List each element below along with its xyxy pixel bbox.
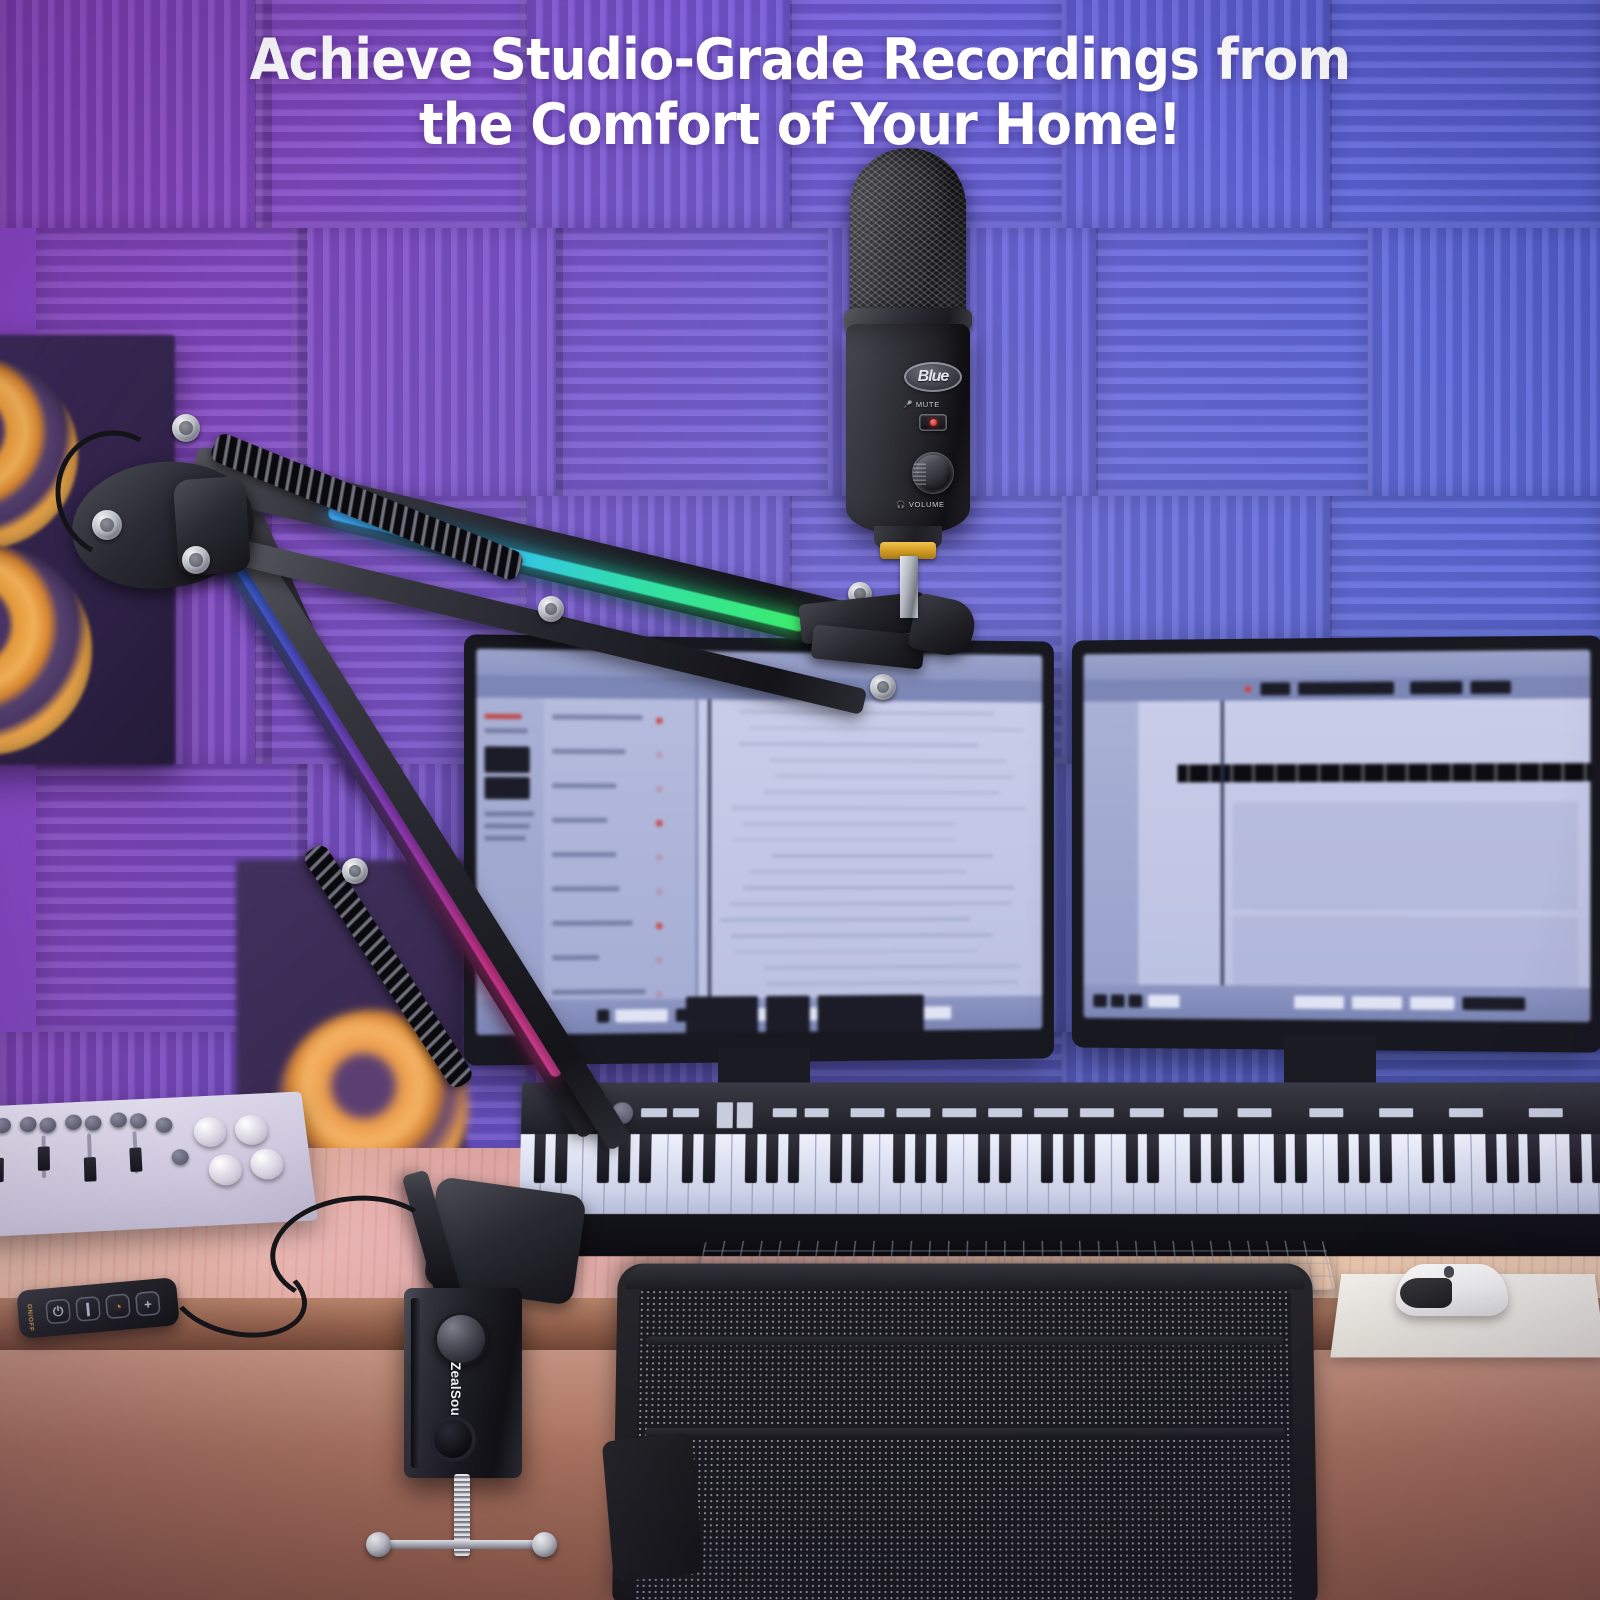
computer-mouse — [1396, 1264, 1508, 1316]
bolt-2 — [92, 510, 122, 540]
piano-black-key — [830, 1134, 842, 1183]
piano-black-key — [1232, 1134, 1244, 1183]
piano-black-key — [766, 1134, 778, 1183]
daw-record-dot — [656, 751, 663, 758]
piano-black-key — [533, 1134, 546, 1183]
bolt-1 — [172, 414, 200, 442]
monitor-left — [464, 634, 1054, 1065]
piano-white-key — [731, 1134, 753, 1216]
mute-button[interactable] — [919, 414, 947, 431]
daw-record-dot — [656, 888, 663, 895]
piano-black-key — [1422, 1134, 1434, 1183]
office-chair — [612, 1264, 1318, 1600]
plus-button[interactable]: + — [135, 1291, 161, 1317]
clamp-cable-channel — [411, 1298, 420, 1468]
chair-mesh-back — [634, 1283, 1295, 1600]
daw-track-label — [552, 818, 607, 823]
editor-menubar — [1084, 650, 1591, 680]
piano-black-key — [1379, 1134, 1391, 1183]
daw-track-row — [743, 885, 1014, 890]
editor-canvas — [1138, 698, 1590, 987]
daw-track-row — [750, 726, 1025, 732]
piano-black-key — [1189, 1134, 1201, 1183]
t-handle-knob-left — [366, 1532, 391, 1557]
daw-track-row — [720, 917, 970, 922]
daw-playhead — [708, 700, 711, 999]
page-title: Achieve Studio-Grade Recordings from the… — [0, 28, 1600, 158]
piano-black-key — [893, 1134, 905, 1183]
daw-record-dot — [656, 854, 663, 861]
piano-black-key — [851, 1134, 863, 1183]
mute-label: 🎤 MUTE — [903, 400, 940, 409]
daw-track-label — [552, 955, 599, 960]
daw-track-row — [776, 774, 1013, 779]
daw-track-row — [743, 822, 956, 826]
brand-label: ZealSoun — [448, 1362, 463, 1424]
mic-threaded-rod — [900, 556, 918, 618]
mute-led — [930, 419, 937, 426]
editor-transport-bar — [1084, 984, 1591, 1022]
daw-track-row — [732, 838, 956, 842]
daw-track-label — [552, 886, 619, 891]
minus-button[interactable]: ❙ — [75, 1296, 101, 1322]
piano-black-key — [1570, 1134, 1583, 1183]
piano-white-key — [583, 1134, 606, 1216]
piano-black-key — [1506, 1134, 1519, 1183]
piano-black-key — [1084, 1134, 1096, 1183]
piano-white-key — [1112, 1134, 1133, 1216]
piano-black-key — [936, 1134, 948, 1183]
midi-keyboard — [518, 1082, 1600, 1260]
piano-white-key — [964, 1134, 986, 1216]
piano-black-key — [1485, 1134, 1498, 1183]
daw-track-label — [552, 852, 616, 857]
mode-button[interactable]: ◔ — [105, 1293, 131, 1319]
clamp-mount-hole — [430, 1416, 476, 1462]
piano-black-key — [1041, 1134, 1053, 1183]
piano-keys — [519, 1134, 1600, 1216]
mic-grille — [850, 148, 966, 318]
piano-black-key — [1063, 1134, 1075, 1183]
daw-record-dot — [656, 991, 663, 998]
audio-mixer — [0, 1091, 318, 1237]
mic-body: Blue 🎤 MUTE 🎧 VOLUME — [846, 324, 970, 534]
piano-black-key — [1295, 1134, 1307, 1183]
daw-track-row — [750, 870, 966, 874]
piano-black-key — [999, 1134, 1011, 1183]
knob-knurling — [913, 461, 926, 485]
piano-black-key — [914, 1134, 926, 1183]
piano-black-key — [703, 1134, 715, 1183]
daw-record-dot — [656, 786, 663, 793]
desk-clamp: ZealSoun — [404, 1288, 522, 1518]
piano-white-key — [879, 1134, 901, 1216]
blue-yeti-microphone: Blue 🎤 MUTE 🎧 VOLUME — [828, 148, 988, 548]
chair-headrest-bar — [625, 1264, 1304, 1290]
editor-playhead — [1221, 701, 1224, 986]
daw-track-label — [552, 921, 633, 926]
piano-black-key — [1210, 1134, 1222, 1183]
mic-icon: 🎤 — [903, 400, 913, 409]
piano-black-key — [1527, 1134, 1540, 1183]
speaker-cone-woofer — [0, 545, 92, 755]
piano-black-key — [1274, 1134, 1286, 1183]
daw-track-list — [544, 698, 698, 1000]
volume-label: 🎧 VOLUME — [896, 500, 945, 509]
screen-daw-session — [476, 649, 1042, 1035]
piano-black-key — [682, 1134, 695, 1183]
piano-black-key — [978, 1134, 990, 1183]
chair-lumbar-support — [602, 1433, 705, 1583]
power-button[interactable]: ⏻ — [45, 1298, 71, 1324]
bolt-4 — [538, 596, 564, 622]
headline-line-2: the Comfort of Your Home! — [0, 93, 1600, 158]
daw-track-row — [766, 980, 1018, 986]
piano-black-key — [1443, 1134, 1455, 1183]
daw-record-dot — [656, 820, 663, 827]
piano-white-key — [1556, 1134, 1579, 1216]
piano-black-key — [639, 1134, 652, 1183]
headline-line-1: Achieve Studio-Grade Recordings from — [250, 27, 1351, 93]
daw-track-label — [552, 783, 616, 788]
daw-record-dot — [656, 717, 663, 724]
bolt-6 — [870, 674, 896, 700]
daw-record-dot — [656, 922, 663, 929]
clamp-pivot-ball — [434, 1312, 488, 1366]
editor-side-panel — [1084, 701, 1139, 984]
piano-white-key — [1324, 1134, 1346, 1216]
daw-track-row — [740, 710, 994, 716]
chair-support-bar-1 — [646, 1337, 1283, 1346]
mic-mount-clamp — [800, 572, 980, 672]
piano-black-key — [1358, 1134, 1370, 1183]
piano-white-key — [1260, 1134, 1282, 1216]
piano-white-key — [1408, 1134, 1430, 1216]
piano-white-key — [1176, 1134, 1198, 1216]
daw-track-row — [740, 742, 979, 747]
piano-black-key — [787, 1134, 799, 1183]
bolt-3 — [182, 546, 210, 574]
piano-black-key — [555, 1134, 568, 1183]
piano-white-key — [816, 1134, 838, 1216]
daw-track-row — [764, 964, 1021, 970]
daw-track-row — [772, 854, 994, 858]
piano-black-key — [745, 1134, 757, 1183]
piano-black-key — [1591, 1134, 1600, 1183]
daw-track-label — [552, 714, 642, 720]
screen-waveform-editor — [1084, 650, 1591, 1022]
daw-record-dot — [656, 957, 663, 964]
piano-white-key — [1471, 1134, 1494, 1216]
mouse-scroll-wheel — [1444, 1266, 1454, 1278]
blue-logo: Blue — [904, 362, 962, 392]
daw-track-row — [731, 933, 992, 938]
piano-white-key — [1028, 1134, 1049, 1216]
chair-support-bar-2 — [645, 1428, 1285, 1437]
bolt-7 — [342, 858, 368, 884]
daw-track-row — [729, 901, 1011, 906]
daw-track-label — [552, 989, 645, 995]
piano-black-key — [1147, 1134, 1159, 1183]
volume-knob[interactable] — [912, 452, 954, 494]
headphones-icon: 🎧 — [896, 500, 906, 509]
piano-white-key — [667, 1134, 690, 1216]
mouse-side-grip — [1400, 1278, 1452, 1308]
daw-track-row — [769, 758, 1007, 763]
blue-logo-text: Blue — [918, 368, 949, 386]
midi-control-panel — [521, 1082, 1600, 1138]
daw-track-row — [731, 806, 1026, 811]
piano-black-key — [1126, 1134, 1138, 1183]
piano-black-key — [1337, 1134, 1349, 1183]
clamp-t-handle[interactable] — [374, 1540, 550, 1549]
monitor-right — [1072, 635, 1600, 1052]
daw-track-row — [735, 949, 977, 954]
daw-track-row — [764, 790, 999, 795]
product-hero-image: Blue 🎤 MUTE 🎧 VOLUME ZealSoun — [0, 0, 1600, 1600]
t-handle-knob-right — [532, 1532, 557, 1557]
daw-track-label — [552, 749, 625, 754]
